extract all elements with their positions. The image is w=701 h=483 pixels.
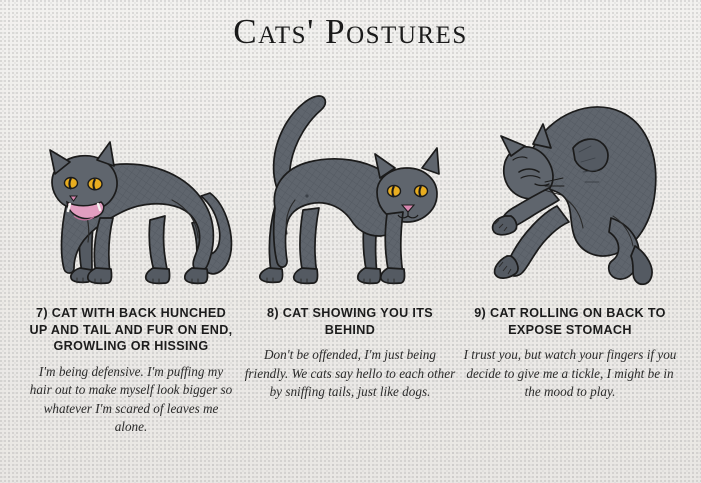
poster-canvas: Cats' Postures — [0, 0, 701, 483]
page-title: Cats' Postures — [0, 14, 701, 49]
panel-8-caption: 8) Cat showing you its behind Don't be o… — [241, 305, 459, 402]
panel-8-illustration — [241, 88, 459, 293]
panel-8-heading: 8) Cat showing you its behind — [241, 305, 459, 338]
cat-arched-back-hissing-art — [22, 88, 240, 293]
cat-rolling-on-back-art — [461, 88, 679, 293]
panel-7-illustration — [22, 88, 240, 293]
cat-tail-up-rear-view-art — [241, 88, 459, 293]
panel-7-caption: 7) Cat with back hunched up and tail and… — [22, 305, 240, 437]
panel-9-caption: 9) Cat rolling on back to expose stomach… — [461, 305, 679, 402]
panel-7-body: I'm being defensive. I'm puffing my hair… — [22, 363, 240, 437]
panel-9-heading: 9) Cat rolling on back to expose stomach — [461, 305, 679, 338]
panel-8-body: Don't be offended, I'm just being friend… — [241, 346, 459, 402]
panel-9-illustration — [461, 88, 679, 293]
panel-9-body: I trust you, but watch your fingers if y… — [461, 346, 679, 402]
panel-7-heading: 7) Cat with back hunched up and tail and… — [22, 305, 240, 355]
